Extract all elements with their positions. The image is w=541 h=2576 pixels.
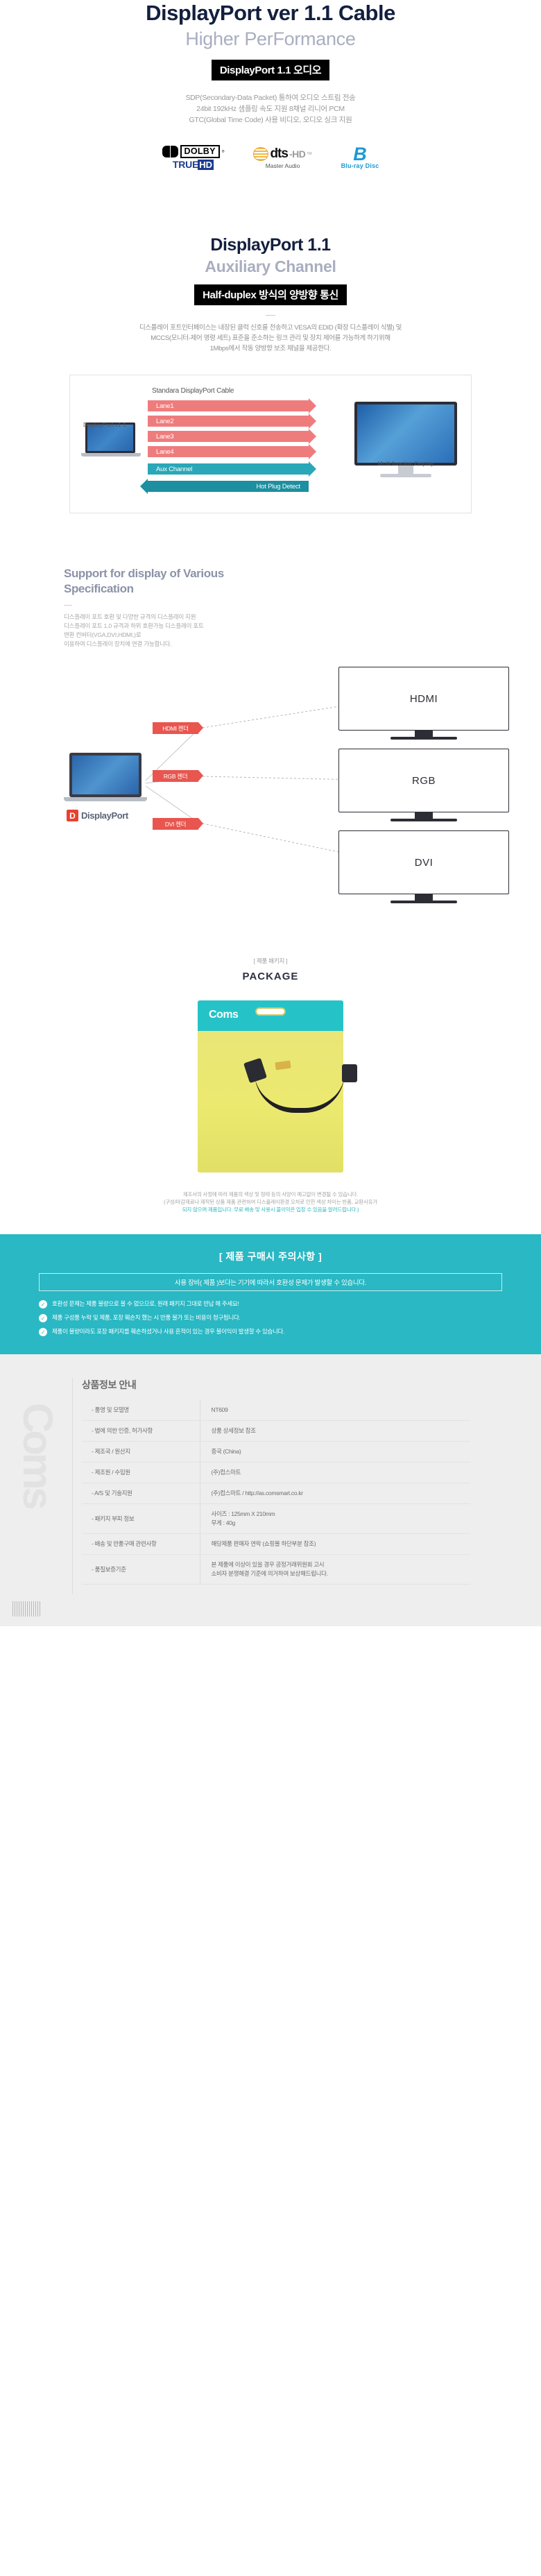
package-hang-hole (255, 1007, 286, 1016)
product-info-section: Coms 상품정보 안내 - 품명 및 모델명NT609- 법에 의한 인증, … (0, 1354, 541, 1626)
caution-item: ✓ 제품이 불량이라도 포장 패키지를 훼손하셨거나 사용 흔적이 있는 경우 … (39, 1327, 502, 1336)
aux-channel-section: DisplayPort 1.1 Auxiliary Channel Half-d… (0, 235, 541, 513)
cable-label: Standara DisplayPort Cable (152, 387, 234, 395)
caution-item-text-3: 제품이 불량이라도 포장 패키지를 훼손하셨거나 사용 흔적이 있는 경우 불이… (52, 1327, 284, 1336)
blu-ray-mark-icon: B (353, 146, 367, 162)
displayport-logo-text: DisplayPort (81, 810, 128, 821)
monitor-screen (354, 402, 457, 466)
monitor-stand (390, 819, 457, 821)
spec-value: 사이즈 : 125mm X 210mm무게 : 40g (200, 1504, 470, 1534)
lane-label-4: Lane4 (148, 448, 173, 456)
package-bag: Coms (198, 1000, 343, 1172)
spec-value: NT609 (200, 1400, 470, 1421)
vertical-divider (72, 1378, 73, 1594)
support-title-line-2: Specification (64, 581, 541, 597)
support-desc-line-4: 이용하여 디스플레이 장치에 연결 가능합니다. (64, 640, 541, 649)
spec-table: - 품명 및 모델명NT609- 법에 의한 인증, 허가사항상품 상세정보 참… (82, 1400, 470, 1585)
cable-wire (255, 1073, 345, 1113)
purchase-caution-section: [ 제품 구매시 주의사항 ] 사용 장비( 제품 )보다는 기기에 따라서 호… (0, 1234, 541, 1354)
lane-arrow-3: Lane3 (148, 431, 309, 442)
source-device-label: DisplayPort v1.1 (70, 421, 139, 428)
lane-diagram: Standara DisplayPort Cable Lane1 Lane2 L… (69, 375, 472, 513)
caution-item: ✓ 제품 구성품 누락 및 제품, 포장 훼손치 했는 시 반품 불가 또는 비… (39, 1313, 502, 1322)
spec-key: - A/S 및 기술지원 (82, 1483, 200, 1504)
page-title: DisplayPort ver 1.1 Cable (0, 0, 541, 25)
laptop-base (64, 797, 147, 801)
displayport-plug-right-icon (342, 1064, 357, 1082)
registered-mark-icon: ® (222, 150, 225, 154)
package-note-line-2: (구성/마감재료나 제작된 상품 제품 관련하여 디스플레이환경 오차로 인한 … (0, 1198, 541, 1206)
package-note: 제조사의 사정에 따라 제품의 색상 및 형태 등의 사양이 예고없이 변경될 … (0, 1191, 541, 1213)
blu-ray-caption: Blu-ray Disc (341, 162, 379, 169)
caution-subtitle: 사용 장비( 제품 )보다는 기기에 따라서 호환성 문제가 발생할 수 있습니… (39, 1273, 502, 1291)
target-device-label: Multi-function Display (349, 460, 463, 467)
connector-label-hdmi: HDMI 젠더 (162, 724, 189, 733)
display-support-diagram: D DisplayPort HDMI 젠더 RGB 젠더 DVI 젠더 HDMI… (64, 661, 541, 911)
dts-rings-icon (253, 147, 268, 161)
caution-title: [ 제품 구매시 주의사항 ] (39, 1249, 502, 1263)
check-icon: ✓ (39, 1300, 47, 1308)
package-photo: Coms (166, 1000, 375, 1175)
audio-format-logos: DOLBY ® TRUE HD dts -HD TM Master Audio (0, 144, 541, 171)
aux-description: 디스플레이 포트인터페이스는 내장된 클럭 신호를 전송하고 VESA의 EDI… (0, 323, 541, 354)
support-title-line-1: Support for display of Various (64, 566, 541, 581)
monitor-stand (390, 737, 457, 740)
spec-heading: 상품정보 안내 (82, 1378, 505, 1392)
table-row: - 품명 및 모델명NT609 (82, 1400, 470, 1421)
hero-badge: DisplayPort 1.1 오디오 (212, 60, 329, 80)
table-row: - 법에 의한 인증, 허가사항상품 상세정보 참조 (82, 1421, 470, 1442)
divider (64, 605, 72, 606)
spec-value: 해당제품 판매자 연락 (쇼핑몰 하단부분 참조) (200, 1534, 470, 1555)
spec-key: - 배송 및 반품구매 관련사항 (82, 1534, 200, 1555)
table-row: - 품질보증기준본 제품에 이상이 있을 경우 공정거래위원회 고시소비자 분쟁… (82, 1555, 470, 1585)
product-detail-page: DisplayPort ver 1.1 Cable Higher PerForm… (0, 0, 541, 1626)
laptop-screen (69, 753, 141, 797)
package-section: [ 제품 패키지 ] PACKAGE Coms 제조사의 사정에 따라 제품의 … (0, 957, 541, 1213)
support-description: 디스플레이 포트 호환 및 다양한 규격의 디스플레이 지원 디스플레이 포트 … (64, 613, 541, 649)
check-icon: ✓ (39, 1314, 47, 1322)
spec-key: - 법에 의한 인증, 허가사항 (82, 1421, 200, 1442)
trademark-icon: TM (307, 152, 311, 156)
caution-item-text-2: 제품 구성품 누락 및 제품, 포장 훼손치 했는 시 반품 불가 또는 비용이… (52, 1313, 241, 1322)
spec-value: 본 제품에 이상이 있을 경우 공정거래위원회 고시소비자 분쟁해결 기준에 의… (200, 1555, 470, 1585)
support-desc-line-3: 변환 컨버터(VGA,DVI,HDMI,)로 (64, 631, 541, 640)
laptop-illustration (81, 423, 141, 466)
connector-badge-rgb: RGB 젠더 (153, 770, 198, 782)
aux-desc-line-3: 1Mbps에서 작동 양방향 보조 채널을 제공한다. (0, 343, 541, 354)
spec-key: - 품질보증기준 (82, 1555, 200, 1585)
hero-desc-line-1: SDP(Secondary-Data Packet) 통하여 오디오 스트림 전… (0, 92, 541, 103)
spec-key: - 제조국 / 원산지 (82, 1442, 200, 1462)
package-title: PACKAGE (0, 971, 541, 982)
aux-badge: Half-duplex 방식의 양방향 통신 (194, 284, 347, 305)
display-card-hdmi: HDMI (338, 667, 509, 731)
display-card-rgb: RGB (338, 749, 509, 812)
dts-hd-text: -HD (289, 148, 305, 160)
displayport-mark-icon: D (67, 810, 78, 821)
hero-section: DisplayPort ver 1.1 Cable Higher PerForm… (0, 0, 541, 171)
source-laptop: D DisplayPort (64, 753, 147, 821)
lane-label-aux: Aux Channel (148, 466, 192, 473)
table-row: - A/S 및 기술지원(주)컴스마트 / http://as.comsmart… (82, 1483, 470, 1504)
spec-value: 상품 상세정보 참조 (200, 1421, 470, 1442)
aux-desc-line-2: MCCS(모니터-제어 명령 세트) 표준을 준소하는 링크 관리 및 장치 제… (0, 333, 541, 343)
package-note-line-1: 제조사의 사정에 따라 제품의 색상 및 형태 등의 사양이 예고없이 변경될 … (0, 1191, 541, 1198)
table-row: - 배송 및 반품구매 관련사항해당제품 판매자 연락 (쇼핑몰 하단부분 참조… (82, 1534, 470, 1555)
cable-product-image (239, 1060, 366, 1127)
table-row: - 제조국 / 원산지중국 (China) (82, 1442, 470, 1462)
dts-caption: Master Audio (266, 162, 300, 169)
display-card-label-dvi: DVI (415, 857, 433, 869)
spec-key: - 제조원 / 수입원 (82, 1462, 200, 1483)
table-row: - 제조원 / 수입원(주)컴스마트 (82, 1462, 470, 1483)
aux-subtitle: Auxiliary Channel (0, 255, 541, 278)
lane-arrow-hpd: Hot Plug Detect (148, 481, 309, 492)
lane-label-2: Lane2 (148, 418, 173, 425)
dts-wordmark: dts (270, 146, 288, 162)
spec-value: (주)컴스마트 (200, 1462, 470, 1483)
spec-key: - 품명 및 모델명 (82, 1400, 200, 1421)
connector-label-rgb: RGB 젠더 (164, 772, 188, 781)
spec-value: 중국 (China) (200, 1442, 470, 1462)
support-section: Support for display of Various Specifica… (0, 566, 541, 911)
dolby-wordmark: DOLBY (180, 145, 220, 158)
lane-label-3: Lane3 (148, 433, 173, 441)
support-desc-line-2: 디스플레이 포트 1.0 규격과 하위 호환가능 디스플레이 포트 (64, 622, 541, 631)
lane-arrow-1: Lane1 (148, 400, 309, 411)
display-card-label-hdmi: HDMI (410, 693, 438, 705)
dts-hd-logo: dts -HD TM Master Audio (253, 146, 311, 169)
hero-desc-line-2: 24bit 192kHz 샘플링 속도 지원 8채널 리니어 PCM (0, 103, 541, 114)
display-card-label-rgb: RGB (412, 775, 436, 787)
table-row: - 패키지 부피 정보사이즈 : 125mm X 210mm무게 : 40g (82, 1504, 470, 1534)
display-card-dvi: DVI (338, 830, 509, 894)
lane-label-1: Lane1 (148, 402, 173, 410)
hero-desc-line-3: GTC(Global Time Code) 사용 비디오, 오디오 싱크 지원 (0, 114, 541, 126)
brand-watermark: Coms (14, 1403, 62, 1508)
lane-label-hpd: Hot Plug Detect (256, 483, 309, 491)
connector-label-dvi: DVI 젠더 (165, 820, 186, 828)
package-eyebrow: [ 제품 패키지 ] (0, 957, 541, 965)
dolby-double-d-icon (162, 146, 178, 157)
displayport-logo: D DisplayPort (67, 810, 147, 821)
gold-connector-icon (275, 1061, 291, 1071)
hero-subtitle: Higher PerFormance (0, 25, 541, 53)
lane-arrow-aux: Aux Channel (148, 463, 309, 475)
package-note-line-3: 되지 않으며 제품입니다. 무료 배송 및 사용시 불이익은 입장 수 있음을 … (0, 1206, 541, 1213)
lane-arrow-2: Lane2 (148, 416, 309, 427)
support-title: Support for display of Various Specifica… (64, 566, 541, 597)
lane-arrow-4: Lane4 (148, 446, 309, 457)
aux-title: DisplayPort 1.1 (0, 235, 541, 255)
laptop-base (81, 453, 141, 457)
blu-ray-disc-logo: B Blu-ray Disc (341, 146, 379, 169)
spec-key: - 패키지 부피 정보 (82, 1504, 200, 1534)
truehd-hd-text: HD (198, 160, 214, 170)
dolby-truehd-logo: DOLBY ® TRUE HD (162, 145, 225, 170)
monitor-foot (380, 474, 431, 477)
monitor-stand (390, 901, 457, 903)
divider (266, 315, 275, 316)
connector-badge-dvi: DVI 젠더 (153, 818, 198, 830)
connector-badge-hdmi: HDMI 젠더 (153, 722, 198, 734)
barcode-graphic (12, 1601, 40, 1617)
hero-description: SDP(Secondary-Data Packet) 통하여 오디오 스트림 전… (0, 92, 541, 126)
aux-desc-line-1: 디스플레이 포트인터페이스는 내장된 클럭 신호를 전송하고 VESA의 EDI… (0, 323, 541, 333)
package-brand-label: Coms (209, 1009, 238, 1021)
spec-value: (주)컴스마트 / http://as.comsmart.co.kr (200, 1483, 470, 1504)
caution-item-text-1: 호환성 문제는 제품 불량으로 볼 수 없으므로, 원래 패키지 그대로 반납 … (52, 1299, 239, 1308)
check-icon: ✓ (39, 1328, 47, 1336)
support-desc-line-1: 디스플레이 포트 호환 및 다양한 규격의 디스플레이 지원 (64, 613, 541, 622)
truehd-text: TRUE (173, 159, 198, 170)
caution-item: ✓ 호환성 문제는 제품 불량으로 볼 수 없으므로, 원래 패키지 그대로 반… (39, 1299, 502, 1308)
